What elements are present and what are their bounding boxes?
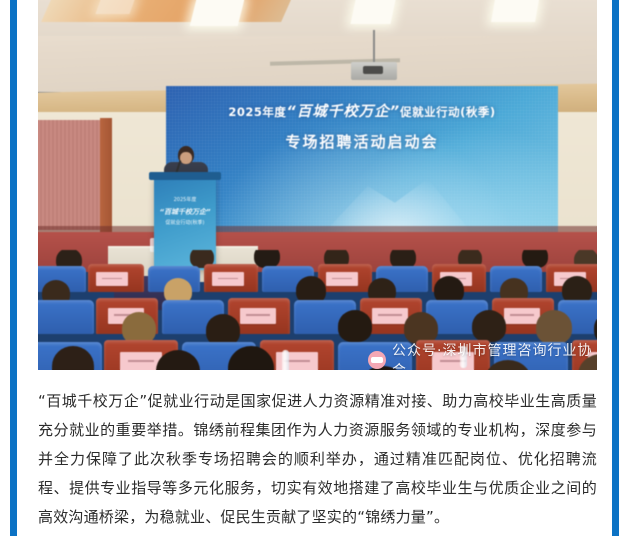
- podium-line3: 促就业行动(秋季): [159, 219, 211, 229]
- audience-head: [472, 310, 506, 342]
- left-accent-rail: [10, 0, 17, 536]
- seat-name-card: [240, 308, 276, 324]
- ceiling-light-panel: [95, 0, 134, 14]
- ceiling-light-panel: [491, 0, 539, 22]
- side-wall-panel: [38, 120, 100, 230]
- ceiling-light-panel: [190, 0, 244, 26]
- seat-name-card: [372, 308, 408, 324]
- seat-name-card: [212, 272, 244, 286]
- podium-line1: 2025年度: [159, 196, 211, 206]
- watermark: 公众号·深圳市管理咨询行业协会: [368, 340, 597, 370]
- banner-line1-highlight: “百城千校万企”: [286, 104, 400, 120]
- speaker-face: [180, 152, 192, 164]
- audience-head: [536, 310, 572, 344]
- podium-line2: “百城千校万企”: [159, 206, 211, 219]
- conference-hall-photo: 2025年度“百城千校万企”促就业行动(秋季) 专场招聘活动启动会 2025年度…: [38, 0, 597, 370]
- podium-text: 2025年度 “百城千校万企” 促就业行动(秋季): [159, 196, 211, 228]
- auditorium-seat: [38, 300, 94, 334]
- seat-name-card: [504, 308, 540, 324]
- banner-line2: 专场招聘活动启动会: [166, 131, 558, 152]
- seat-name-card: [326, 272, 358, 286]
- podium-top: [149, 172, 221, 180]
- ceiling-light-panel: [350, 0, 395, 24]
- side-wall-post: [100, 118, 112, 238]
- banner-line1-suffix: 促就业行动(秋季): [400, 105, 496, 119]
- right-accent-rail: [612, 0, 619, 536]
- water-bottle: [282, 350, 289, 370]
- stage-led-screen: 2025年度“百城千校万企”促就业行动(秋季) 专场招聘活动启动会: [166, 86, 558, 234]
- ceiling-warm-panel: [41, 0, 291, 22]
- projector-icon: [351, 62, 397, 80]
- screen-banner-text: 2025年度“百城千校万企”促就业行动(秋季) 专场招聘活动启动会: [166, 100, 558, 152]
- article-container: 2025年度“百城千校万企”促就业行动(秋季) 专场招聘活动启动会 2025年度…: [38, 0, 597, 532]
- ceiling: [38, 0, 597, 92]
- seat-name-card: [96, 272, 128, 286]
- article-paragraph: “百城千校万企”促就业行动是国家促进人力资源精准对接、助力高校毕业生高质量充分就…: [38, 387, 597, 532]
- watermark-text: 公众号·深圳市管理咨询行业协会: [392, 340, 597, 370]
- audience-head: [338, 310, 372, 342]
- wechat-official-account-logo: [368, 351, 386, 369]
- banner-line1-prefix: 2025年度: [228, 105, 286, 119]
